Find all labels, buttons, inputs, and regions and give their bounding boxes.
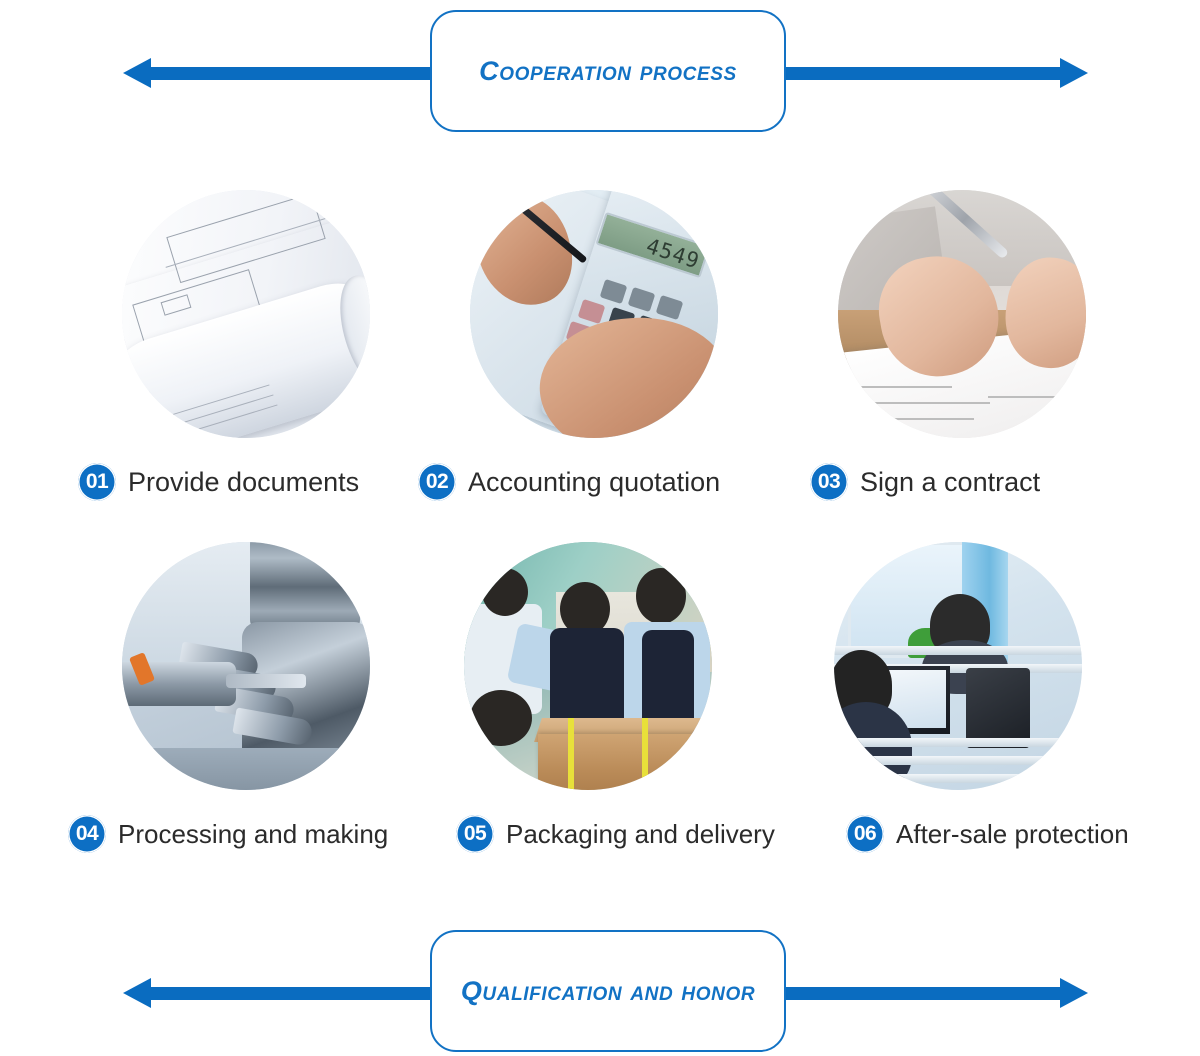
section-title-box-top: Cooperation process: [430, 10, 786, 132]
arrow-left-head-icon: [123, 978, 151, 1008]
process-step-01[interactable]: 01 Provide documents: [56, 178, 436, 530]
process-step-03[interactable]: 03 Sign a contract: [772, 178, 1152, 530]
step-05-image: [464, 542, 712, 790]
step-label: Sign a contract: [860, 467, 1040, 498]
step-04-image: [122, 542, 370, 790]
step-01-caption: 01 Provide documents: [56, 456, 436, 508]
step-label: Provide documents: [128, 467, 359, 498]
process-step-05[interactable]: 05 Packaging and delivery: [398, 530, 778, 882]
step-02-image: 4549: [470, 190, 718, 438]
step-number-badge: 04: [68, 815, 106, 853]
step-label: Packaging and delivery: [506, 819, 775, 850]
qualification-and-honor-banner: Qualification and honor: [0, 930, 1200, 1056]
process-steps-row-2: 04 Processing and making: [0, 530, 1200, 882]
step-number-badge: 05: [456, 815, 494, 853]
section-title-bottom: Qualification and honor: [461, 976, 755, 1007]
step-number-badge: 03: [810, 463, 848, 501]
step-05-caption: 05 Packaging and delivery: [398, 808, 778, 860]
section-title-top: Cooperation process: [479, 56, 737, 87]
process-steps-row-1: 01 Provide documents 4549: [0, 178, 1200, 530]
step-01-image: [122, 190, 370, 438]
step-06-caption: 06 After-sale protection: [768, 808, 1148, 860]
cooperation-process-banner: Cooperation process: [0, 10, 1200, 136]
arrow-right-head-icon: [1060, 978, 1088, 1008]
step-02-caption: 02 Accounting quotation: [404, 456, 784, 508]
arrow-left-head-icon: [123, 58, 151, 88]
step-number-badge: 01: [78, 463, 116, 501]
step-label: Accounting quotation: [468, 467, 720, 498]
process-step-06[interactable]: 06 After-sale protection: [768, 530, 1148, 882]
step-number-badge: 06: [846, 815, 884, 853]
process-step-02[interactable]: 4549 02 Accounting quotation: [404, 178, 784, 530]
step-number-badge: 02: [418, 463, 456, 501]
step-label: After-sale protection: [896, 819, 1129, 850]
process-step-04[interactable]: 04 Processing and making: [56, 530, 436, 882]
process-steps-grid: 01 Provide documents 4549: [0, 178, 1200, 882]
step-03-caption: 03 Sign a contract: [772, 456, 1152, 508]
step-label: Processing and making: [118, 819, 388, 850]
section-title-box-bottom: Qualification and honor: [430, 930, 786, 1052]
step-03-image: [838, 190, 1086, 438]
step-06-image: [834, 542, 1082, 790]
arrow-right-head-icon: [1060, 58, 1088, 88]
step-04-caption: 04 Processing and making: [56, 808, 436, 860]
